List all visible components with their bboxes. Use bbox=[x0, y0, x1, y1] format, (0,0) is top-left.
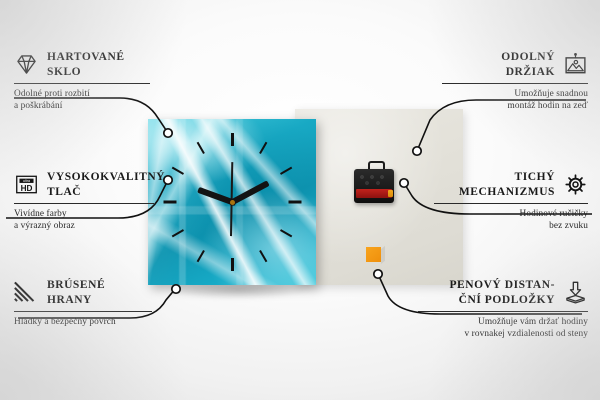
svg-text:ultra: ultra bbox=[23, 179, 30, 183]
callout-title-line2: SKLO bbox=[47, 65, 125, 80]
callout-rule bbox=[14, 311, 152, 312]
gear-icon bbox=[563, 172, 588, 197]
callout-title-line2: TLAČ bbox=[47, 185, 165, 200]
callout-desc-line1: Vivídne farby bbox=[14, 208, 156, 220]
callout-title-line1: ODOLNÝ bbox=[501, 50, 555, 65]
callout-high-quality-print: ultra HD VYSOKOKVALITNÝ TLAČ Vivídne far… bbox=[14, 170, 156, 232]
callout-header: PENOVÝ DISTAN- ČNÍ PODLOŽKY bbox=[416, 278, 588, 307]
callout-header: BRÚSENÉ HRANY bbox=[14, 278, 154, 307]
callout-title-line2: ČNÍ PODLOŽKY bbox=[449, 293, 555, 308]
callout-desc-line2: bez zvuku bbox=[432, 220, 588, 232]
clock-face bbox=[148, 119, 316, 285]
callout-silent-mechanism: TICHÝ MECHANIZMUS Hodinové ručičky bez z… bbox=[432, 170, 588, 232]
callout-title-line1: PENOVÝ DISTAN- bbox=[449, 278, 555, 293]
callout-header: ODOLNÝ DRŽIAK bbox=[440, 50, 588, 79]
callout-tempered-glass: HARTOVANÉ SKLO Odolné proti rozbití a po… bbox=[14, 50, 154, 112]
clock-center-pin bbox=[230, 200, 235, 205]
diagonal-stripes-icon bbox=[14, 280, 39, 305]
callout-title-line2: MECHANIZMUS bbox=[459, 185, 555, 200]
callout-desc-line2: montáž hodin na zeď bbox=[440, 100, 588, 112]
svg-text:HD: HD bbox=[21, 184, 33, 193]
callout-rule bbox=[14, 83, 150, 84]
hour-marker bbox=[231, 258, 234, 271]
callout-desc-line1: Hladký a bezpečný povrch bbox=[14, 316, 154, 328]
callout-title-line1: HARTOVANÉ bbox=[47, 50, 125, 65]
diamond-icon bbox=[14, 52, 39, 77]
callout-foam-spacers: PENOVÝ DISTAN- ČNÍ PODLOŽKY Umožňuje vám… bbox=[416, 278, 588, 340]
callout-durable-hanger: ODOLNÝ DRŽIAK Umožňuje snadnou montáž ho… bbox=[440, 50, 588, 112]
product-infographic: HARTOVANÉ SKLO Odolné proti rozbití a po… bbox=[0, 0, 600, 400]
callout-rule bbox=[434, 203, 588, 204]
callout-header: ultra HD VYSOKOKVALITNÝ TLAČ bbox=[14, 170, 156, 199]
foam-spacer-pad bbox=[366, 247, 381, 262]
battery bbox=[356, 189, 392, 198]
mechanism-detail bbox=[358, 174, 390, 186]
callout-polished-edges: BRÚSENÉ HRANY Hladký a bezpečný povrch bbox=[14, 278, 154, 328]
callout-desc-line2: v rovnakej vzdialenosti od steny bbox=[416, 328, 588, 340]
callout-desc-line1: Hodinové ručičky bbox=[432, 208, 588, 220]
callout-title-line1: TICHÝ bbox=[459, 170, 555, 185]
callout-header: HARTOVANÉ SKLO bbox=[14, 50, 154, 79]
callout-title-line2: HRANY bbox=[47, 293, 105, 308]
callout-header: TICHÝ MECHANIZMUS bbox=[432, 170, 588, 199]
callout-title-line1: BRÚSENÉ bbox=[47, 278, 105, 293]
callout-desc-line1: Odolné proti rozbití bbox=[14, 88, 154, 100]
ultra-hd-icon: ultra HD bbox=[14, 172, 39, 197]
callout-desc-line2: a výrazný obraz bbox=[14, 220, 156, 232]
stacked-pad-arrow-icon bbox=[563, 280, 588, 305]
callout-title-line2: DRŽIAK bbox=[501, 65, 555, 80]
picture-frame-icon bbox=[563, 52, 588, 77]
product-image bbox=[130, 95, 470, 300]
callout-rule bbox=[14, 203, 154, 204]
hour-marker bbox=[289, 201, 302, 204]
callout-desc-line2: a poškrábání bbox=[14, 100, 154, 112]
callout-rule bbox=[442, 83, 588, 84]
callout-desc-line1: Umožňuje vám držať hodiny bbox=[416, 316, 588, 328]
callout-rule bbox=[418, 311, 588, 312]
hour-marker bbox=[164, 201, 177, 204]
callout-desc-line1: Umožňuje snadnou bbox=[440, 88, 588, 100]
hour-marker bbox=[231, 133, 234, 146]
callout-title-line1: VYSOKOKVALITNÝ bbox=[47, 170, 165, 185]
